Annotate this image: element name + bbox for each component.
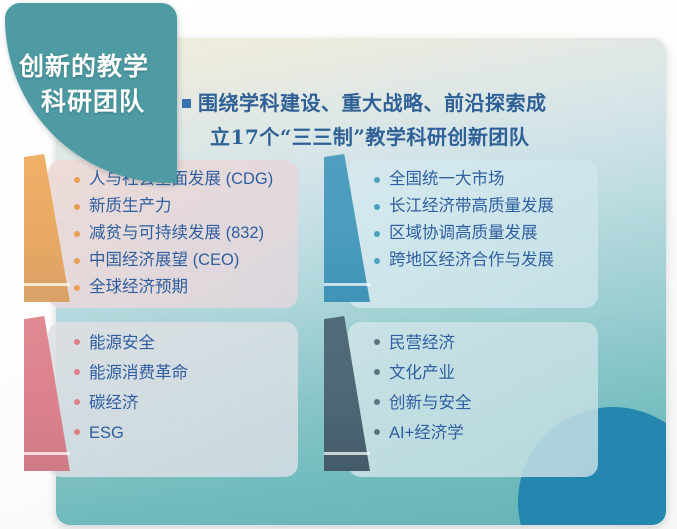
list-item: 创新与安全 [374, 388, 590, 418]
topic-card-energy[interactable]: 能源安全 能源消费革命 碳经济 ESG [16, 322, 298, 477]
list-item: 民营经济 [374, 328, 590, 358]
title-badge-text: 创新的教学科研团队 [5, 49, 163, 119]
card-bullet-list: 能源安全 能源消费革命 碳经济 ESG [74, 328, 290, 448]
title-badge-line-1: 创新的教学 [19, 52, 149, 81]
topic-card-economy[interactable]: 民营经济 文化产业 创新与安全 AI+经济学 [316, 322, 598, 477]
card-accent-divider [324, 452, 370, 455]
list-item: 能源安全 [74, 328, 290, 358]
card-accent-divider [324, 283, 370, 286]
header-line-1: 围绕学科建设、重大战略、前沿探索成 [198, 91, 547, 115]
list-item: AI+经济学 [374, 418, 590, 448]
list-item: 区域协调高质量发展 [374, 220, 590, 247]
list-item: 能源消费革命 [74, 358, 290, 388]
card-accent-divider [24, 452, 70, 455]
topic-card-grid: 人与社会全面发展 (CDG) 新质生产力 减贫与可持续发展 (832) 中国经济… [8, 160, 602, 480]
list-item: 跨地区经济合作与发展 [374, 247, 590, 274]
list-item: 中国经济展望 (CEO) [74, 247, 290, 274]
list-item: ESG [74, 418, 290, 448]
topic-card-market[interactable]: 全国统一大市场 长江经济带高质量发展 区域协调高质量发展 跨地区经济合作与发展 [316, 160, 598, 308]
card-bullet-list: 民营经济 文化产业 创新与安全 AI+经济学 [374, 328, 590, 448]
card-bullet-list: 人与社会全面发展 (CDG) 新质生产力 减贫与可持续发展 (832) 中国经济… [74, 166, 290, 301]
list-item: 碳经济 [74, 388, 290, 418]
title-badge-line-2: 科研团队 [5, 84, 163, 119]
card-bullet-list: 全国统一大市场 长江经济带高质量发展 区域协调高质量发展 跨地区经济合作与发展 [374, 166, 590, 274]
list-item: 全国统一大市场 [374, 166, 590, 193]
header-line-2: 立17个“三三制”教学科研创新团队 [182, 120, 652, 154]
slide-stage: 创新的教学科研团队 围绕学科建设、重大战略、前沿探索成 立17个“三三制”教学科… [0, 0, 677, 529]
square-bullet-icon [182, 99, 191, 108]
card-accent-divider [24, 283, 70, 286]
header-paragraph: 围绕学科建设、重大战略、前沿探索成 立17个“三三制”教学科研创新团队 [182, 86, 652, 154]
list-item: 全球经济预期 [74, 274, 290, 301]
list-item: 长江经济带高质量发展 [374, 193, 590, 220]
list-item: 减贫与可持续发展 (832) [74, 220, 290, 247]
list-item: 文化产业 [374, 358, 590, 388]
list-item: 新质生产力 [74, 193, 290, 220]
